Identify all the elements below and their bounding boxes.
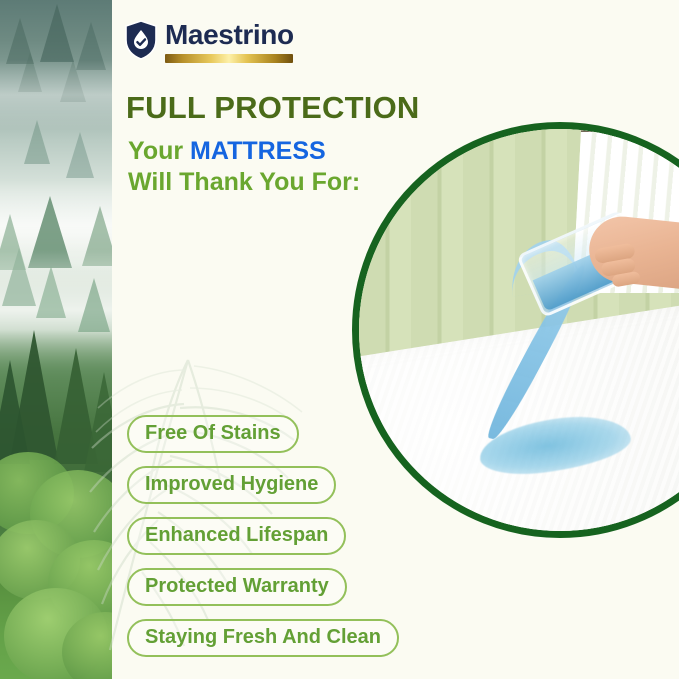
benefit-pill: Improved Hygiene: [127, 466, 336, 504]
bedroom-scene: [359, 129, 679, 531]
conifer-silhouette: [66, 132, 94, 178]
curtain-rod: [581, 123, 679, 132]
subtitle-line2: Will Thank You For:: [128, 168, 360, 196]
shield-droplet-check-icon: [124, 20, 158, 60]
benefit-pill: Protected Warranty: [127, 568, 347, 606]
subtitle: Your MATTRESS Will Thank You For:: [128, 136, 360, 198]
benefit-pill: Enhanced Lifespan: [127, 517, 346, 555]
benefit-list: Free Of Stains Improved Hygiene Enhanced…: [127, 415, 399, 670]
subtitle-highlight: MATTRESS: [190, 137, 326, 165]
brand-tag: [658, 531, 679, 538]
brand-logo: Maestrino: [124, 20, 294, 63]
conifer-silhouette: [60, 60, 86, 102]
conifer-silhouette: [78, 278, 110, 332]
product-infographic: Maestrino FULL PROTECTION Your MATTRESS …: [0, 0, 679, 679]
gold-underline-bar: [165, 54, 293, 63]
subtitle-prefix: Your: [128, 137, 190, 165]
product-photo-circle: [352, 122, 679, 538]
forest-photo: [0, 0, 112, 679]
brand-name: Maestrino: [165, 20, 294, 50]
page-title: FULL PROTECTION: [126, 90, 419, 126]
conifer-silhouette: [0, 360, 30, 464]
conifer-silhouette: [2, 248, 36, 306]
conifer-silhouette: [24, 120, 50, 164]
conifer-silhouette: [40, 4, 74, 62]
brand-wordmark: Maestrino: [165, 20, 294, 63]
conifer-silhouette: [36, 266, 66, 318]
conifer-silhouette: [82, 206, 112, 266]
conifer-silhouette: [84, 372, 112, 472]
conifer-silhouette: [18, 52, 42, 92]
benefit-pill: Free Of Stains: [127, 415, 299, 453]
benefit-pill: Staying Fresh And Clean: [127, 619, 399, 657]
